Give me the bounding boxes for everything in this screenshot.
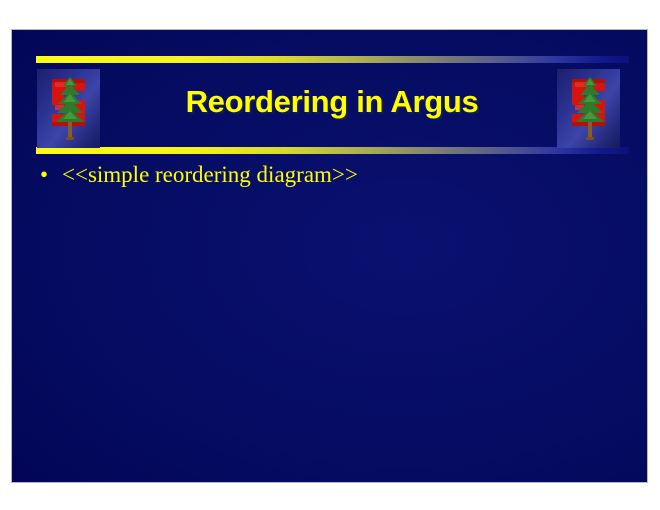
- stanford-tree-s-logo-right-icon: [557, 69, 620, 148]
- slide-title-block: Reordering in Argus: [12, 30, 647, 162]
- title-bottom-rule: [36, 147, 629, 154]
- title-top-rule: [36, 56, 629, 63]
- slide-stage: Reordering in Argus • <<simple reorderin…: [0, 0, 660, 510]
- bullet-text: <<simple reordering diagram>>: [62, 162, 619, 188]
- slide-body: • <<simple reordering diagram>>: [12, 162, 647, 188]
- bullet-marker-icon: •: [40, 163, 62, 186]
- presentation-slide: Reordering in Argus • <<simple reorderin…: [11, 29, 648, 483]
- stanford-tree-s-logo-left-icon: [37, 69, 100, 148]
- list-item: • <<simple reordering diagram>>: [12, 162, 647, 188]
- slide-title: Reordering in Argus: [112, 86, 552, 117]
